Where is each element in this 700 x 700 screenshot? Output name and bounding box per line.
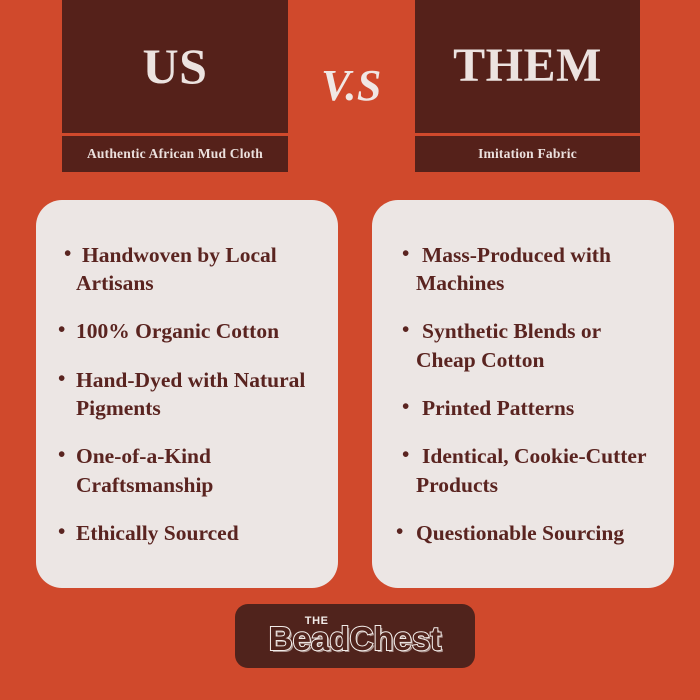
- brand-lockup: THE BeadChest: [269, 618, 441, 655]
- brand-prefix-the: THE: [305, 615, 329, 627]
- header-subtitle-them: Imitation Fabric: [478, 146, 577, 162]
- header-panel-us: US Authentic African Mud Cloth: [62, 0, 288, 172]
- list-item: Hand-Dyed with Natural Pigments: [58, 366, 320, 423]
- drawback-list-them: Mass-Produced with Machines Synthetic Bl…: [394, 241, 656, 548]
- list-item: Synthetic Blends or Cheap Cotton: [394, 317, 656, 374]
- header-subtitle-us: Authentic African Mud Cloth: [87, 146, 263, 162]
- benefit-list-us: Handwoven by Local Artisans 100% Organic…: [58, 241, 320, 548]
- header-title-us: US: [143, 41, 208, 91]
- brand-logo: THE BeadChest: [235, 604, 475, 668]
- header-row: US Authentic African Mud Cloth V.S THEM …: [0, 0, 700, 172]
- list-item: Printed Patterns: [394, 394, 656, 422]
- header-panel-them: THEM Imitation Fabric: [415, 0, 640, 172]
- list-item: Identical, Cookie-Cutter Products: [394, 442, 656, 499]
- header-title-area-us: US: [62, 0, 288, 133]
- list-item: Handwoven by Local Artisans: [58, 241, 320, 298]
- header-title-area-them: THEM: [415, 0, 640, 133]
- list-item: One-of-a-Kind Craftsmanship: [58, 442, 320, 499]
- header-subtitle-area-us: Authentic African Mud Cloth: [62, 136, 288, 172]
- header-subtitle-area-them: Imitation Fabric: [415, 136, 640, 172]
- versus-badge: V.S: [288, 0, 415, 172]
- brand-name-beadchest: BeadChest: [269, 620, 441, 657]
- comparison-infographic: US Authentic African Mud Cloth V.S THEM …: [0, 0, 700, 700]
- comparison-card-us: Handwoven by Local Artisans 100% Organic…: [36, 200, 338, 588]
- list-item: 100% Organic Cotton: [58, 317, 320, 345]
- header-title-them: THEM: [453, 42, 602, 90]
- list-item: Ethically Sourced: [58, 519, 320, 547]
- comparison-card-them: Mass-Produced with Machines Synthetic Bl…: [372, 200, 674, 588]
- versus-label: V.S: [321, 64, 382, 108]
- list-item: Questionable Sourcing: [394, 519, 656, 547]
- list-item: Mass-Produced with Machines: [394, 241, 656, 298]
